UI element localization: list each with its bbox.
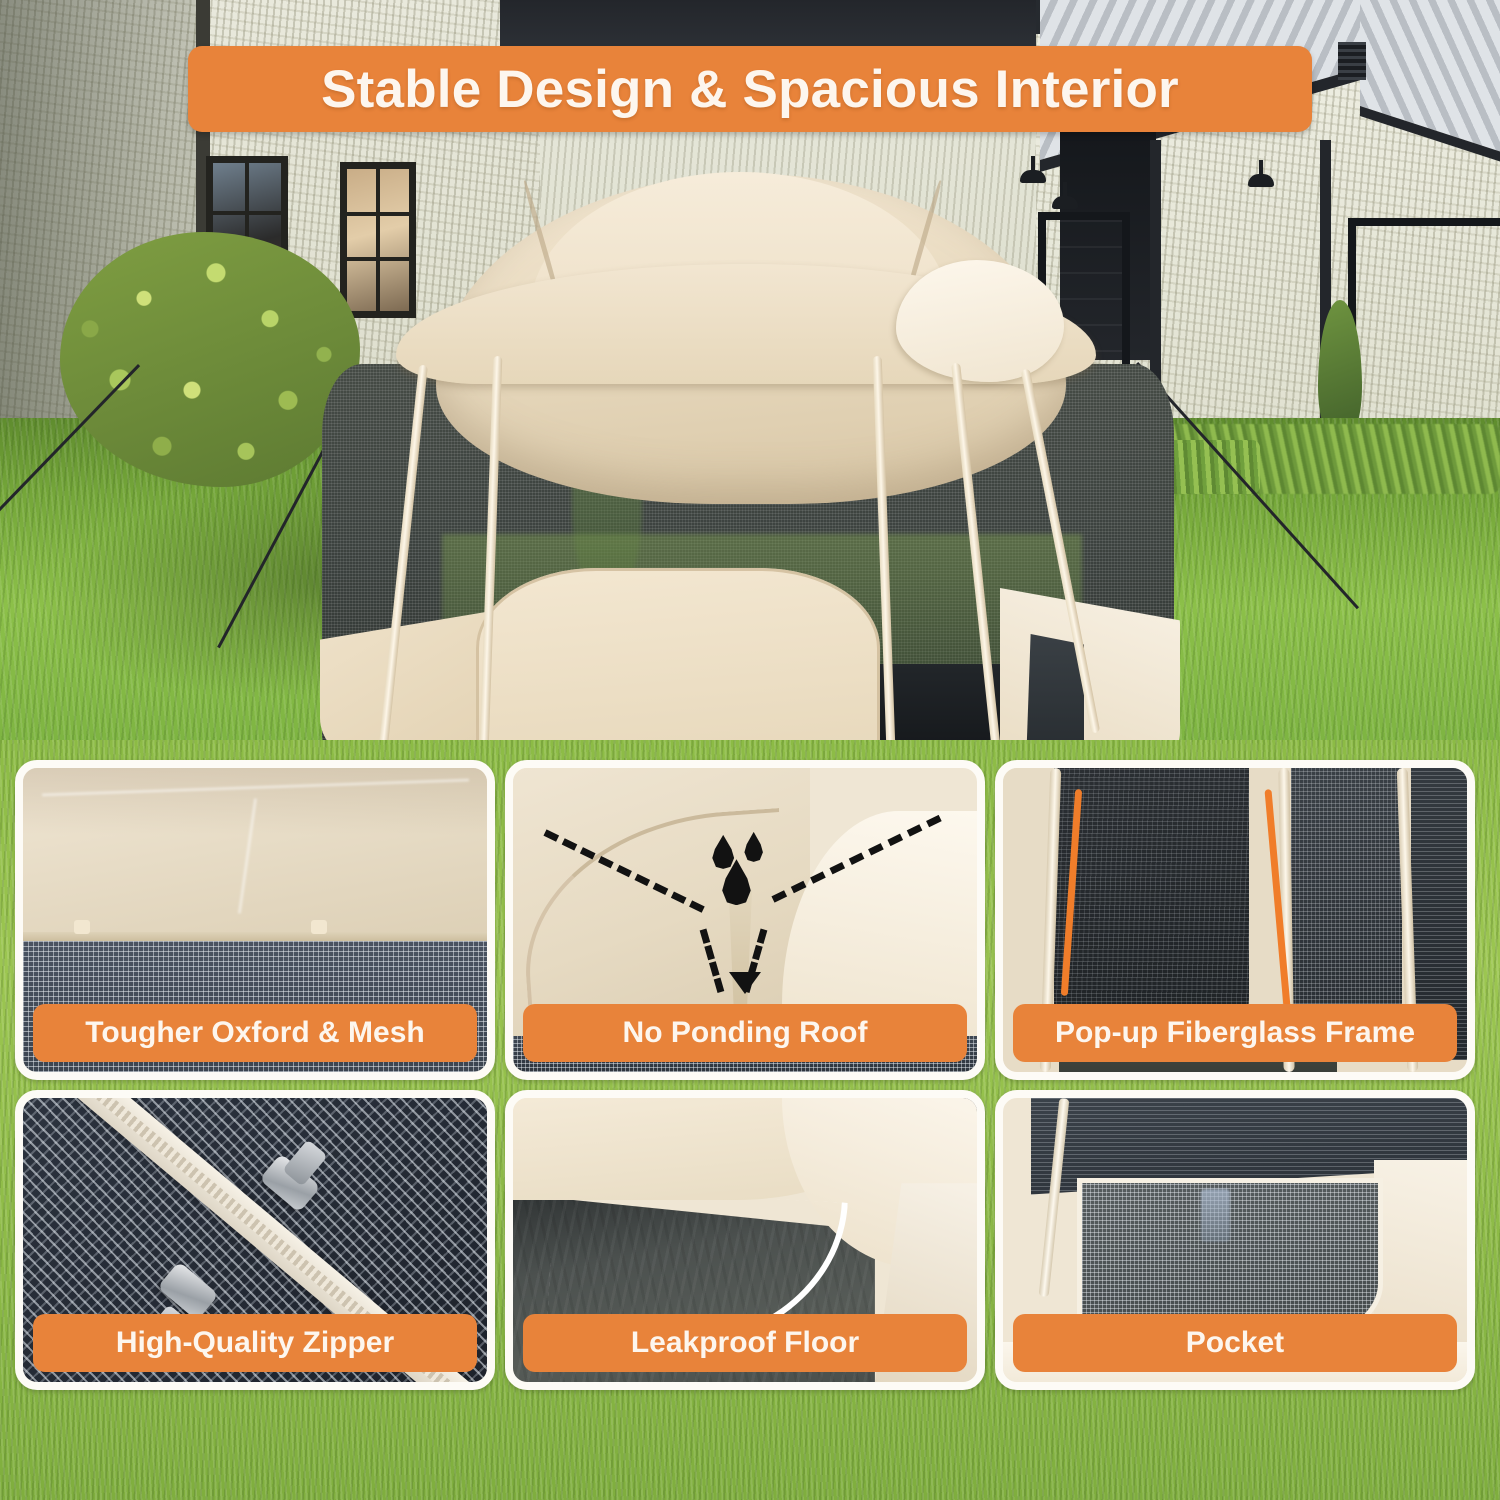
feature-label-bar: No Ponding Roof [523,1004,967,1062]
pocket-contents [1201,1189,1231,1242]
tent-door-panel [476,568,880,760]
page-title: Stable Design & Spacious Interior [321,59,1179,120]
feature-label-text: Pop-up Fiberglass Frame [1055,1016,1415,1050]
fabric-tab [311,920,327,934]
feature-card-high-quality-zipper[interactable]: High-Quality Zipper [15,1090,495,1390]
flow-arrow-down-icon [729,972,761,994]
fabric-tab [74,920,90,934]
feature-label-bar: Leakproof Floor [523,1314,967,1372]
feature-card-pocket[interactable]: Pocket [995,1090,1475,1390]
feature-grid: Tougher Oxford & Mesh [0,740,1500,1500]
feature-label-text: No Ponding Roof [623,1016,868,1050]
product-feature-image: Stable Design & Spacious Interior Toughe… [0,0,1500,1500]
hero-photo: Stable Design & Spacious Interior [0,0,1500,760]
tent-roof-vent-flap [896,260,1064,382]
feature-label-bar: Pocket [1013,1314,1457,1372]
feature-label-bar: High-Quality Zipper [33,1314,477,1372]
feature-card-no-ponding-roof[interactable]: No Ponding Roof [505,760,985,1080]
feature-card-tougher-oxford-mesh[interactable]: Tougher Oxford & Mesh [15,760,495,1080]
gable-vent [1338,42,1366,80]
feature-card-leakproof-floor[interactable]: Leakproof Floor [505,1090,985,1390]
feature-label-text: Pocket [1186,1326,1284,1360]
feature-label-text: High-Quality Zipper [116,1326,394,1360]
feature-label-text: Leakproof Floor [631,1326,859,1360]
fabric-hem [23,932,487,941]
feature-label-text: Tougher Oxford & Mesh [85,1016,424,1050]
feature-label-bar: Pop-up Fiberglass Frame [1013,1004,1457,1062]
feature-card-pop-up-fiberglass-frame[interactable]: Pop-up Fiberglass Frame [995,760,1475,1080]
feature-label-bar: Tougher Oxford & Mesh [33,1004,477,1062]
hero-title-banner: Stable Design & Spacious Interior [188,46,1312,132]
screen-house-tent [300,168,1200,728]
